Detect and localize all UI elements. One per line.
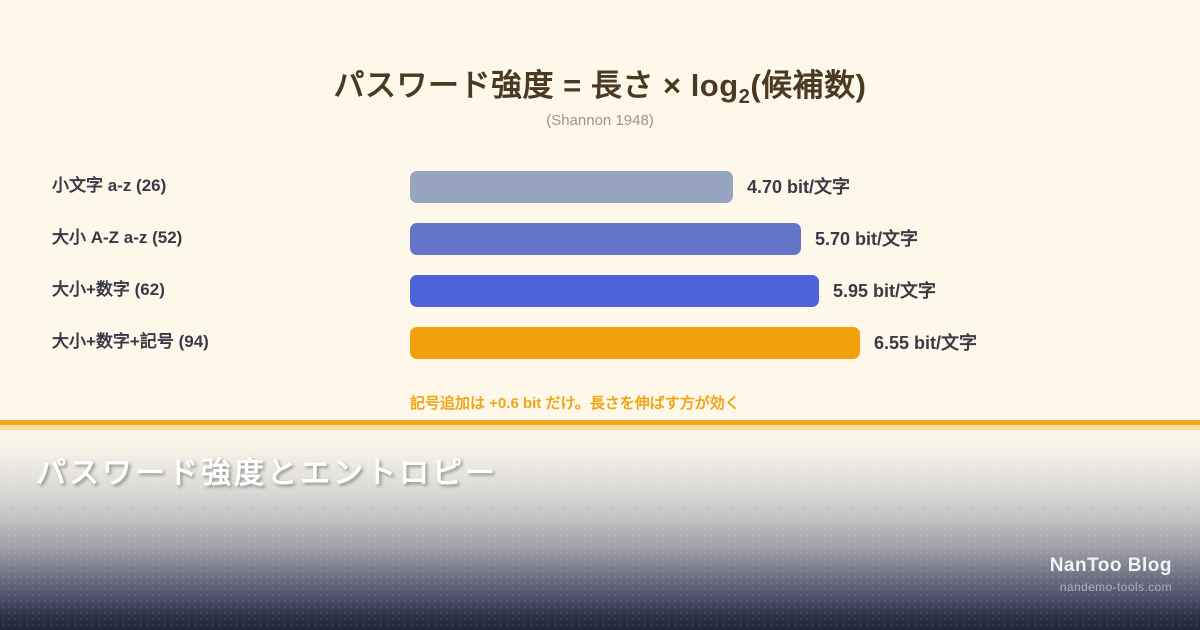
chart-title-subscript: 2 (739, 86, 751, 108)
table-row: 大小+数字+記号 (94) 6.55 bit/文字 (0, 316, 1200, 368)
bar-category-label: 大小+数字+記号 (94) (52, 316, 209, 368)
chart-panel: パスワード強度 = 長さ × log2(候補数) (Shannon 1948) … (0, 0, 1200, 420)
bar-fill (410, 275, 819, 307)
bar-fill (410, 223, 801, 255)
table-row: 大小 A-Z a-z (52) 5.70 bit/文字 (0, 212, 1200, 264)
bar-track: 5.70 bit/文字 (410, 223, 1030, 255)
bar-value-label: 6.55 bit/文字 (874, 327, 977, 359)
table-row: 大小+数字 (62) 5.95 bit/文字 (0, 264, 1200, 316)
bar-category-label: 大小+数字 (62) (52, 264, 165, 316)
infographic-canvas: パスワード強度 = 長さ × log2(候補数) (Shannon 1948) … (0, 0, 1200, 630)
bar-track: 6.55 bit/文字 (410, 327, 1030, 359)
table-row: 小文字 a-z (26) 4.70 bit/文字 (0, 160, 1200, 212)
bar-category-label: 小文字 a-z (26) (52, 160, 166, 212)
bar-fill (410, 171, 733, 203)
footer-banner: パスワード強度とエントロピー NanToo Blog nandemo-tools… (0, 430, 1200, 630)
banner-title: パスワード強度とエントロピー (36, 448, 498, 492)
chart-title: パスワード強度 = 長さ × log2(候補数) (0, 60, 1200, 109)
brand-url: nandemo-tools.com (1050, 580, 1172, 594)
bar-value-label: 5.70 bit/文字 (815, 223, 918, 255)
bar-track: 5.95 bit/文字 (410, 275, 1030, 307)
bar-rows: 小文字 a-z (26) 4.70 bit/文字 大小 A-Z a-z (52)… (0, 160, 1200, 368)
brand-name: NanToo Blog (1050, 555, 1172, 577)
chart-subtitle: (Shannon 1948) (0, 112, 1200, 129)
bar-value-label: 5.95 bit/文字 (833, 275, 936, 307)
brand-block: NanToo Blog nandemo-tools.com (1050, 555, 1172, 594)
chart-title-main: パスワード強度 = 長さ × log (334, 68, 739, 103)
bar-value-label: 4.70 bit/文字 (747, 171, 850, 203)
bar-track: 4.70 bit/文字 (410, 171, 1030, 203)
bar-fill (410, 327, 860, 359)
chart-title-tail: (候補数) (750, 68, 866, 103)
chart-annotation: 記号追加は +0.6 bit だけ。長さを伸ばす方が効く (410, 392, 740, 413)
bar-category-label: 大小 A-Z a-z (52) (52, 212, 182, 264)
